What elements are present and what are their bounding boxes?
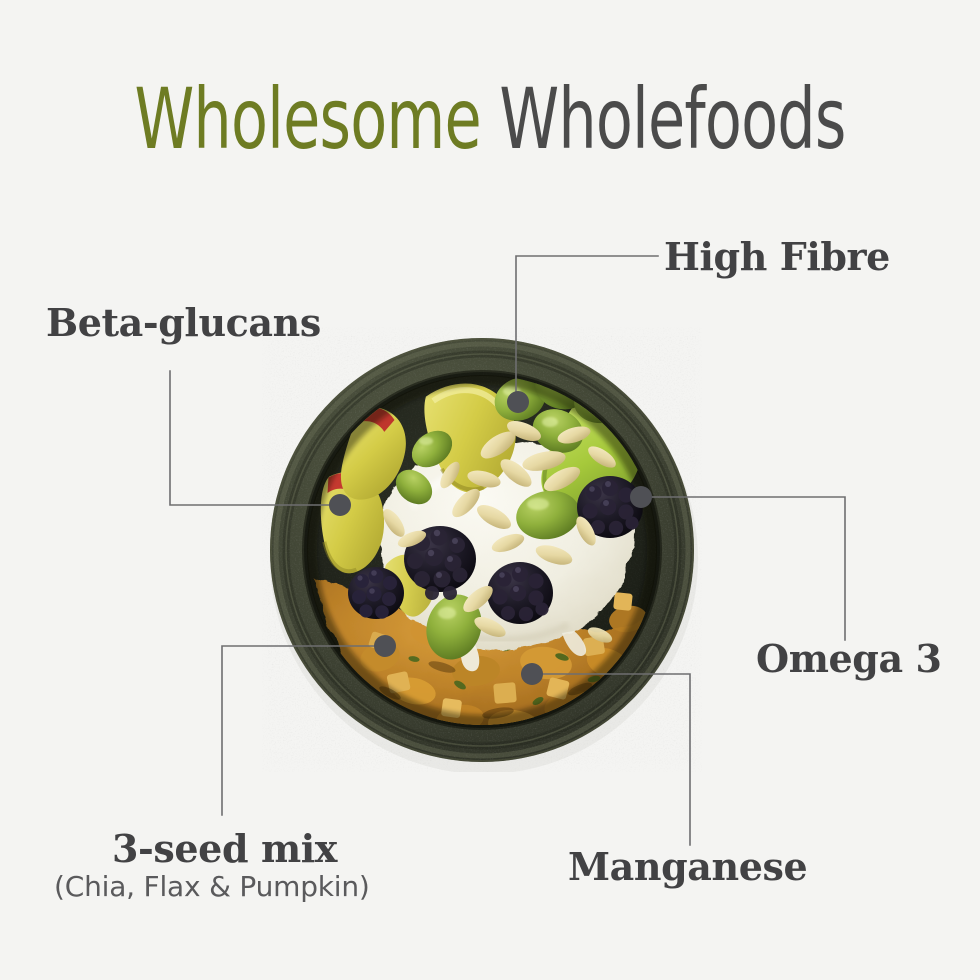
page-title-accent: Wholesome: [134, 70, 499, 168]
callout-label-manganese: Manganese: [568, 844, 807, 889]
callout-label-beta-glucans: Beta-glucans: [46, 300, 321, 345]
page-title: Wholesome Wholefoods: [98, 70, 882, 168]
infographic-canvas: Wholesome Wholefoods: [0, 0, 980, 980]
callout-label-high-fibre: High Fibre: [664, 234, 890, 279]
callout-sublabel-3-seed-mix: (Chia, Flax & Pumpkin): [54, 870, 370, 903]
callout-label-omega-3: Omega 3: [756, 636, 942, 681]
callout-label-3-seed-mix: 3-seed mix: [112, 826, 337, 871]
breakfast-bowl-photo: [262, 327, 702, 772]
page-title-plain: Wholefoods: [499, 70, 845, 168]
